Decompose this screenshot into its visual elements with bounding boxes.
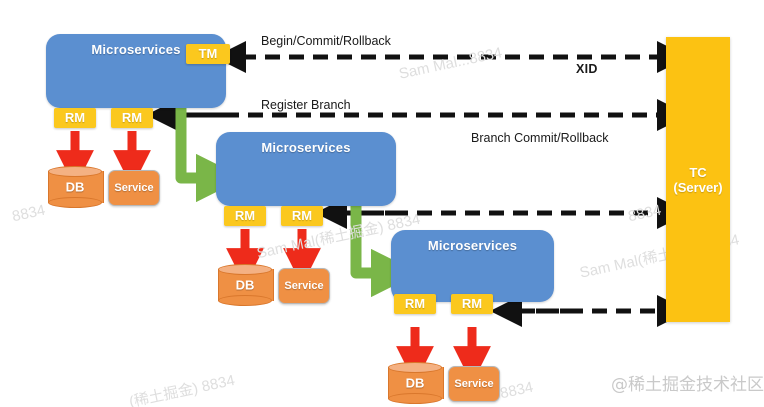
microservice-label: Microservices xyxy=(391,230,554,253)
rm-badge-1b[interactable]: RM xyxy=(111,108,153,128)
microservice-box-2[interactable]: Microservices xyxy=(216,132,396,206)
microservice-label: Microservices xyxy=(216,132,396,155)
service-label: Service xyxy=(279,280,329,292)
db-label: DB xyxy=(48,180,102,195)
edge-label-xid: XID xyxy=(576,62,598,76)
cylinder-bottom xyxy=(218,295,272,306)
rm-badge-1a[interactable]: RM xyxy=(54,108,96,128)
tc-title: TC xyxy=(666,165,730,180)
cylinder-bottom xyxy=(48,197,102,208)
microservice-box-3[interactable]: Microservices xyxy=(391,230,554,302)
db-cylinder-2[interactable]: DB xyxy=(218,264,272,306)
rm-badge-3b[interactable]: RM xyxy=(451,294,493,314)
db-label: DB xyxy=(218,278,272,293)
cylinder-bottom xyxy=(388,393,442,404)
edge-label-begin-commit-rollback: Begin/Commit/Rollback xyxy=(261,34,391,48)
service-label: Service xyxy=(449,378,499,390)
diagram-canvas: TC (XID) ---- --> TC (Register Branch) -… xyxy=(0,0,764,407)
service-box-1[interactable]: Service xyxy=(108,170,160,206)
db-cylinder-3[interactable]: DB xyxy=(388,362,442,404)
tc-subtitle: (Server) xyxy=(666,180,730,195)
edge-label-branch-commit-rollback: Branch Commit/Rollback xyxy=(471,131,609,145)
service-box-3[interactable]: Service xyxy=(448,366,500,402)
service-box-2[interactable]: Service xyxy=(278,268,330,304)
cylinder-top xyxy=(218,264,272,275)
tc-inner: TC (Server) xyxy=(666,165,730,195)
cylinder-top xyxy=(48,166,102,177)
db-cylinder-1[interactable]: DB xyxy=(48,166,102,208)
tm-badge-1[interactable]: TM xyxy=(186,44,230,64)
service-label: Service xyxy=(109,182,159,194)
rm-badge-2b[interactable]: RM xyxy=(281,206,323,226)
rm-badge-3a[interactable]: RM xyxy=(394,294,436,314)
rm-badge-2a[interactable]: RM xyxy=(224,206,266,226)
tc-server-column[interactable]: TC (Server) xyxy=(666,37,730,322)
db-label: DB xyxy=(388,376,442,391)
edge-label-register-branch: Register Branch xyxy=(261,98,351,112)
cylinder-top xyxy=(388,362,442,373)
